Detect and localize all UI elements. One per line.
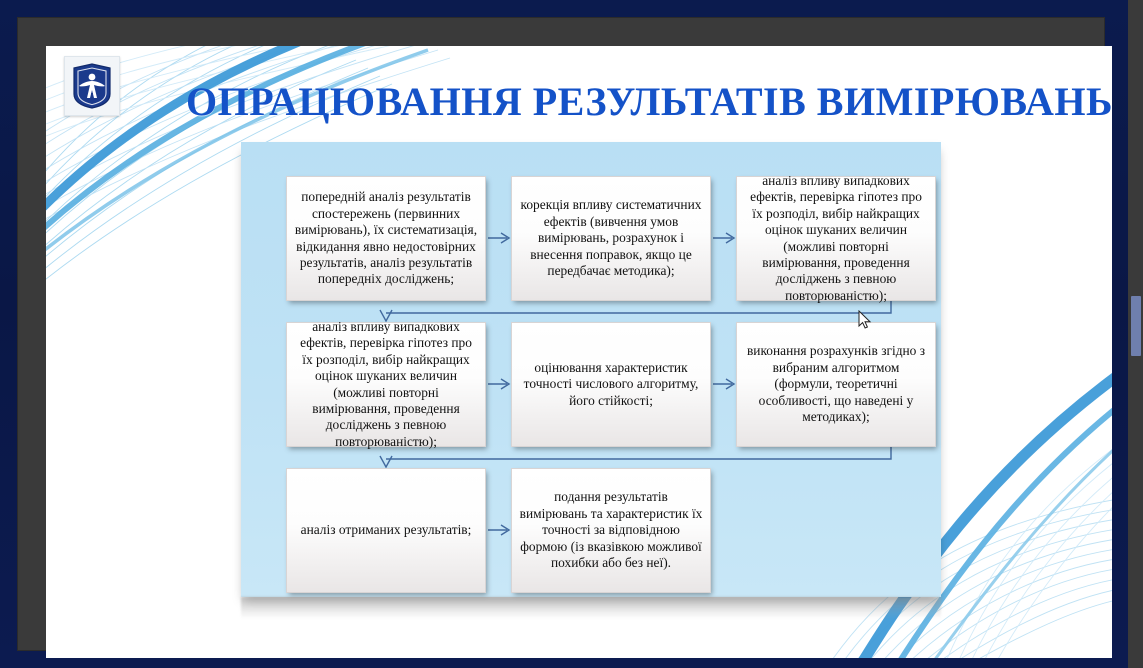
arrowhead-n7-n8 (501, 525, 509, 535)
slide-canvas: ОПРАЦЮВАННЯ РЕЗУЛЬТАТІВ ВИМІРЮВАНЬ (46, 46, 1112, 658)
flow-node-n5[interactable]: оцінювання характеристик точності числов… (511, 322, 711, 447)
arrowhead-n5-n6 (726, 379, 734, 389)
vertical-scrollbar[interactable] (1128, 0, 1143, 668)
arrowhead-n1-n2 (501, 233, 509, 243)
flow-node-n8[interactable]: подання результатів вимірювань та характ… (511, 468, 711, 593)
arrowhead-n6-n7 (380, 456, 392, 467)
flow-node-n2[interactable]: корекція впливу систематичних ефектів (в… (511, 176, 711, 301)
arrowhead-n4-n5 (501, 379, 509, 389)
university-emblem-logo (64, 56, 120, 116)
flow-node-n4[interactable]: аналіз впливу випадкових ефектів, переві… (286, 322, 486, 447)
shield-icon (70, 62, 114, 110)
flow-node-n3[interactable]: аналіз впливу випадкових ефектів, переві… (736, 176, 936, 301)
flowchart-panel: попередній аналіз результатів спостереже… (241, 142, 941, 597)
presentation-viewer: ОПРАЦЮВАННЯ РЕЗУЛЬТАТІВ ВИМІРЮВАНЬ (0, 0, 1143, 668)
scrollbar-thumb[interactable] (1131, 296, 1141, 356)
flow-node-n7[interactable]: аналіз отриманих результатів; (286, 468, 486, 593)
arrowhead-n2-n3 (726, 233, 734, 243)
flowchart-panel-shadow (241, 597, 941, 619)
page-title: ОПРАЦЮВАННЯ РЕЗУЛЬТАТІВ ВИМІРЮВАНЬ (186, 78, 1096, 125)
flow-node-n6[interactable]: виконання розрахунків згідно з вибраним … (736, 322, 936, 447)
slide-frame: ОПРАЦЮВАННЯ РЕЗУЛЬТАТІВ ВИМІРЮВАНЬ (18, 18, 1104, 650)
flow-node-n1[interactable]: попередній аналіз результатів спостереже… (286, 176, 486, 301)
